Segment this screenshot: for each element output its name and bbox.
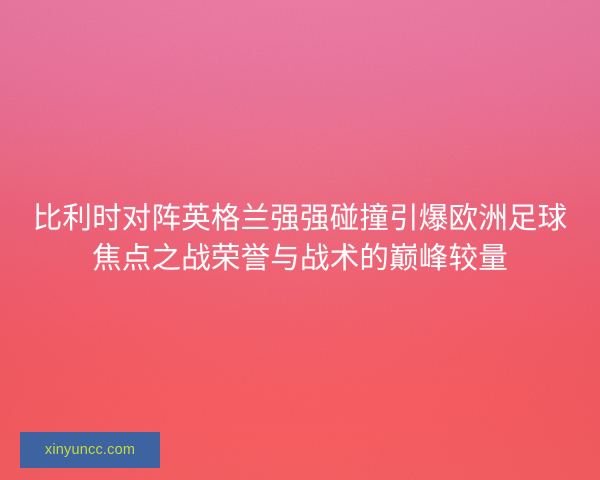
poster-image: 比利时对阵英格兰强强碰撞引爆欧洲足球 焦点之战荣誉与战术的巅峰较量 xinyun… xyxy=(0,0,600,480)
page-title: 比利时对阵英格兰强强碰撞引爆欧洲足球 焦点之战荣誉与战术的巅峰较量 xyxy=(0,199,600,279)
page-title-line-2: 焦点之战荣誉与战术的巅峰较量 xyxy=(0,239,600,279)
watermark-label: xinyuncc.com xyxy=(45,443,135,458)
page-title-line-1: 比利时对阵英格兰强强碰撞引爆欧洲足球 xyxy=(0,199,600,239)
watermark-badge: xinyuncc.com xyxy=(20,432,160,468)
